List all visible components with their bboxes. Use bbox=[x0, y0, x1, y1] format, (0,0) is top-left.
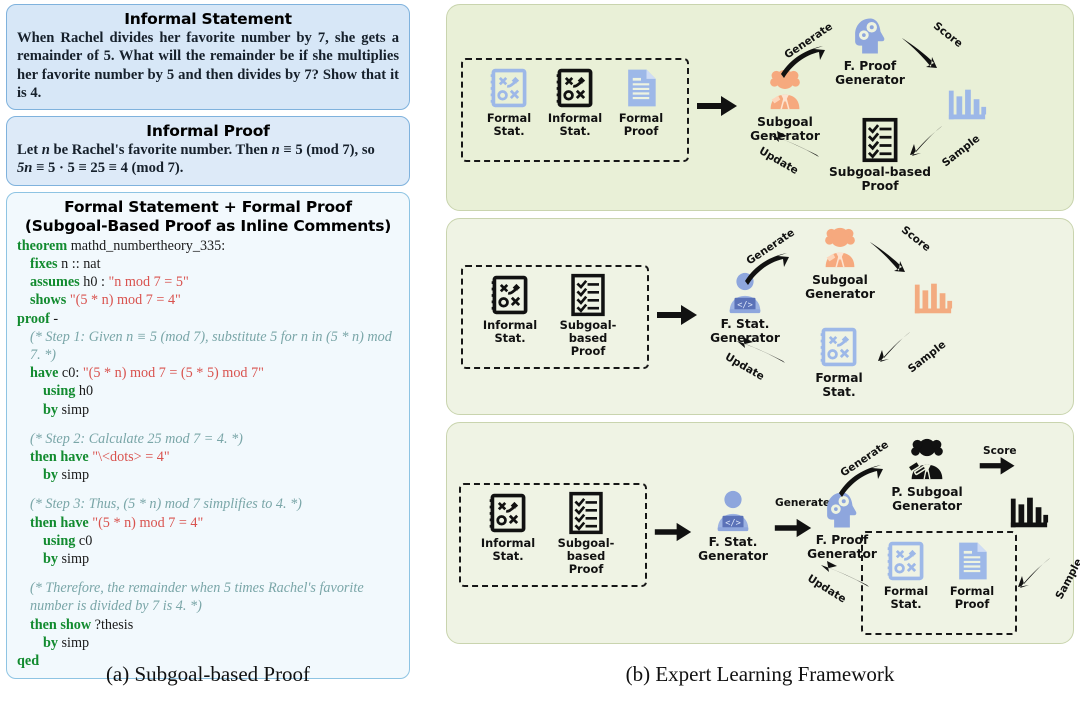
checklist-icon bbox=[566, 491, 606, 535]
panel2-input-arrow-icon bbox=[655, 302, 699, 333]
bar-chart-icon bbox=[1005, 491, 1053, 533]
panel3-node-fstat-generator-label: F. Stat. Generator bbox=[698, 535, 768, 563]
panel1-node-score-chart bbox=[939, 83, 995, 125]
code-token-str: "\<dots> = 4" bbox=[92, 449, 169, 465]
code-token-plain: simp bbox=[62, 551, 90, 567]
code-line: (* Step 2: Calculate 25 mod 7 = 4. *) bbox=[17, 430, 399, 448]
panel1-input-group: Formal Stat. Informal Stat. Formal Proof bbox=[461, 58, 689, 162]
code-token-plain: simp bbox=[62, 635, 90, 651]
formal-card-title-line1: Formal Statement + Formal Proof bbox=[17, 198, 399, 217]
formal-card-title-line2: (Subgoal-Based Proof as Inline Comments) bbox=[17, 217, 399, 236]
code-token-kw: then have bbox=[30, 449, 92, 465]
svg-text:</>: </> bbox=[725, 518, 741, 528]
informal-statement-icon bbox=[488, 273, 532, 317]
panel1-node-fproof-generator-label: F. Proof Generator bbox=[835, 59, 905, 87]
code-token-plain: mathd_numbertheory_335: bbox=[71, 238, 225, 254]
caption-a: (a) Subgoal-based Proof bbox=[6, 662, 410, 687]
head-gears-icon bbox=[849, 15, 891, 57]
panel2-input-subgoal-based-proof-label: Subgoal-based Proof bbox=[544, 319, 632, 357]
panel2-node-score-chart bbox=[905, 277, 961, 319]
panel3-edge-score-label: Score bbox=[983, 445, 1017, 457]
code-blank-line bbox=[17, 568, 399, 579]
code-line: by simp bbox=[17, 466, 399, 484]
code-token-plain: simp bbox=[62, 402, 90, 418]
code-line: assumes h0 : "n mod 7 = 5" bbox=[17, 273, 399, 291]
panel3-input-informal-stat: Informal Stat. bbox=[476, 491, 540, 563]
panel-round-3: Informal Stat. Subgoal-based Proof </> F… bbox=[446, 422, 1074, 644]
panel3-output-formal-proof: Formal Proof bbox=[940, 539, 1004, 611]
judge-icon bbox=[904, 437, 950, 483]
code-line: then have "(5 * n) mod 7 = 4" bbox=[17, 514, 399, 532]
informal-statement-icon bbox=[486, 491, 530, 535]
formal-statement-proof-card: Formal Statement + Formal Proof (Subgoal… bbox=[6, 192, 410, 679]
code-token-str: "(5 * n) mod 7 = (5 * 5) mod 7" bbox=[83, 365, 264, 381]
panel3-node-score-chart bbox=[1001, 491, 1057, 533]
panel1-input-informal-stat-label: Informal Stat. bbox=[548, 112, 602, 138]
code-line: theorem mathd_numbertheory_335: bbox=[17, 237, 399, 255]
informal-proof-seg-4: ≡ 5 · 5 ≡ 25 ≡ 4 (mod 7). bbox=[32, 160, 183, 176]
panel1-input-informal-stat: Informal Stat. bbox=[543, 66, 607, 138]
panel3-input-subgoal-based-proof: Subgoal-based Proof bbox=[542, 491, 630, 575]
code-line: (* Therefore, the remainder when 5 times… bbox=[17, 579, 399, 615]
code-token-plain: simp bbox=[62, 467, 90, 483]
code-token-cmt: (* Step 3: Thus, (5 * n) mod 7 simplifie… bbox=[30, 496, 302, 512]
panel2-input-informal-stat: Informal Stat. bbox=[478, 273, 542, 345]
code-blank-line bbox=[17, 419, 399, 430]
code-token-plain: h0 : bbox=[83, 274, 108, 290]
code-line: (* Step 3: Thus, (5 * n) mod 7 simplifie… bbox=[17, 495, 399, 513]
informal-proof-var-5n: 5n bbox=[17, 160, 32, 176]
code-token-kw: by bbox=[43, 402, 62, 418]
code-token-kw: then have bbox=[30, 515, 92, 531]
panel1-input-formal-stat: Formal Stat. bbox=[477, 66, 541, 138]
panel3-output-formal-proof-label: Formal Proof bbox=[950, 585, 994, 611]
formal-proof-icon bbox=[619, 66, 663, 110]
code-token-cmt: (* Step 2: Calculate 25 mod 7 = 4. *) bbox=[30, 431, 243, 447]
panel3-node-p-subgoal-generator-label: P. Subgoal Generator bbox=[891, 485, 962, 513]
code-token-kw: assumes bbox=[30, 274, 83, 290]
code-line: shows "(5 * n) mod 7 = 4" bbox=[17, 291, 399, 309]
formal-statement-icon bbox=[817, 325, 861, 369]
code-token-kw: using bbox=[43, 533, 79, 549]
code-line: by simp bbox=[17, 401, 399, 419]
panel2-arrow-sample-icon bbox=[867, 329, 913, 380]
informal-proof-seg-1: Let bbox=[17, 142, 42, 158]
person-orange-icon bbox=[817, 225, 863, 271]
code-line: fixes n :: nat bbox=[17, 255, 399, 273]
code-token-cmt: (* Step 1: Given n ≡ 5 (mod 7), substitu… bbox=[30, 329, 392, 363]
panel3-edge-sample-label: Sample bbox=[1053, 557, 1080, 602]
panel2-node-subgoal-generator-label: Subgoal Generator bbox=[805, 273, 875, 301]
subgoal-based-proof-column: Informal Statement When Rachel divides h… bbox=[6, 4, 410, 650]
panel3-arrow-score-icon bbox=[975, 451, 1021, 496]
panel2-node-formal-stat-label: Formal Stat. bbox=[815, 371, 862, 399]
code-token-plain: - bbox=[53, 311, 58, 327]
code-token-plain: c0 bbox=[79, 533, 92, 549]
checklist-icon bbox=[859, 117, 901, 163]
code-token-plain: c0: bbox=[62, 365, 83, 381]
code-token-kw: shows bbox=[30, 292, 70, 308]
code-token-kw: proof bbox=[17, 311, 53, 327]
informal-proof-var-n2: n bbox=[272, 142, 280, 158]
code-line: by simp bbox=[17, 550, 399, 568]
isabelle-proof-code: theorem mathd_numbertheory_335:fixes n :… bbox=[17, 237, 399, 670]
panel3-input-informal-stat-label: Informal Stat. bbox=[481, 537, 535, 563]
code-token-str: "(5 * n) mod 7 = 4" bbox=[92, 515, 203, 531]
code-token-cmt: (* Therefore, the remainder when 5 times… bbox=[30, 580, 364, 614]
code-token-plain: h0 bbox=[79, 383, 93, 399]
code-line: by simp bbox=[17, 634, 399, 652]
figure-root: Informal Statement When Rachel divides h… bbox=[0, 0, 1080, 702]
panel1-arrow-score-icon bbox=[899, 33, 945, 84]
informal-statement-text: When Rachel divides her favorite number … bbox=[17, 29, 399, 102]
code-line: then have "\<dots> = 4" bbox=[17, 448, 399, 466]
formal-statement-icon bbox=[884, 539, 928, 583]
informal-statement-title: Informal Statement bbox=[17, 10, 399, 29]
panel1-edge-sample-label: Sample bbox=[940, 133, 982, 170]
panel3-input-subgoal-based-proof-label: Subgoal-based Proof bbox=[542, 537, 630, 575]
bar-chart-icon bbox=[909, 277, 957, 319]
panel3-arrow-sample-icon bbox=[1007, 555, 1053, 606]
code-line: have c0: "(5 * n) mod 7 = (5 * 5) mod 7" bbox=[17, 364, 399, 382]
code-token-plain: n :: nat bbox=[61, 256, 100, 272]
panel3-input-group: Informal Stat. Subgoal-based Proof bbox=[459, 483, 647, 587]
panel3-node-fstat-generator: </> F. Stat. Generator bbox=[687, 489, 779, 563]
panel-round-2: Informal Stat. Subgoal-based Proof </> F… bbox=[446, 218, 1074, 415]
code-token-kw: by bbox=[43, 551, 62, 567]
informal-statement-card: Informal Statement When Rachel divides h… bbox=[6, 4, 410, 110]
panel2-input-subgoal-based-proof: Subgoal-based Proof bbox=[544, 273, 632, 357]
formal-proof-icon bbox=[950, 539, 994, 583]
panel1-arrow-sample-icon bbox=[899, 123, 945, 174]
code-token-str: "n mod 7 = 5" bbox=[108, 274, 188, 290]
person-laptop-icon: </> bbox=[709, 489, 757, 533]
expert-learning-framework-column: Formal Stat. Informal Stat. Formal Proof bbox=[446, 4, 1074, 650]
code-token-kw: using bbox=[43, 383, 79, 399]
panel3-output-formal-stat-label: Formal Stat. bbox=[884, 585, 928, 611]
code-token-plain: ?thesis bbox=[95, 617, 134, 633]
panel2-input-informal-stat-label: Informal Stat. bbox=[483, 319, 537, 345]
code-line: using h0 bbox=[17, 382, 399, 400]
panel2-arrow-score-icon bbox=[867, 237, 913, 288]
panel2-input-group: Informal Stat. Subgoal-based Proof bbox=[461, 265, 649, 369]
informal-statement-icon bbox=[553, 66, 597, 110]
panel-round-1: Formal Stat. Informal Stat. Formal Proof bbox=[446, 4, 1074, 211]
panel3-output-formal-stat: Formal Stat. bbox=[874, 539, 938, 611]
informal-proof-var-n: n bbox=[42, 142, 50, 158]
checklist-icon bbox=[568, 273, 608, 317]
code-token-kw: theorem bbox=[17, 238, 71, 254]
code-line: (* Step 1: Given n ≡ 5 (mod 7), substitu… bbox=[17, 328, 399, 364]
panel1-input-arrow-icon bbox=[695, 93, 739, 124]
code-token-kw: by bbox=[43, 467, 62, 483]
bar-chart-icon bbox=[943, 83, 991, 125]
panel1-input-formal-proof-label: Formal Proof bbox=[619, 112, 663, 138]
code-line: then show ?thesis bbox=[17, 616, 399, 634]
informal-proof-seg-2: be Rachel's favorite number. Then bbox=[50, 142, 272, 158]
panel3-output-group: Formal Stat. Formal Proof bbox=[861, 531, 1017, 635]
informal-proof-card: Informal Proof Let n be Rachel's favorit… bbox=[6, 116, 410, 186]
svg-text:</>: </> bbox=[737, 300, 753, 310]
code-blank-line bbox=[17, 484, 399, 495]
code-token-kw: fixes bbox=[30, 256, 61, 272]
code-token-kw: have bbox=[30, 365, 62, 381]
informal-proof-seg-3: ≡ 5 (mod 7), so bbox=[280, 142, 375, 158]
code-line: using c0 bbox=[17, 532, 399, 550]
panel1-input-formal-proof: Formal Proof bbox=[609, 66, 673, 138]
code-token-kw: then show bbox=[30, 617, 95, 633]
panel1-input-formal-stat-label: Formal Stat. bbox=[487, 112, 531, 138]
caption-b: (b) Expert Learning Framework bbox=[446, 662, 1074, 687]
informal-proof-title: Informal Proof bbox=[17, 122, 399, 141]
code-line: proof - bbox=[17, 310, 399, 328]
code-token-kw: by bbox=[43, 635, 62, 651]
code-token-str: "(5 * n) mod 7 = 4" bbox=[70, 292, 181, 308]
informal-proof-text: Let n be Rachel's favorite number. Then … bbox=[17, 141, 399, 178]
formal-statement-icon bbox=[487, 66, 531, 110]
